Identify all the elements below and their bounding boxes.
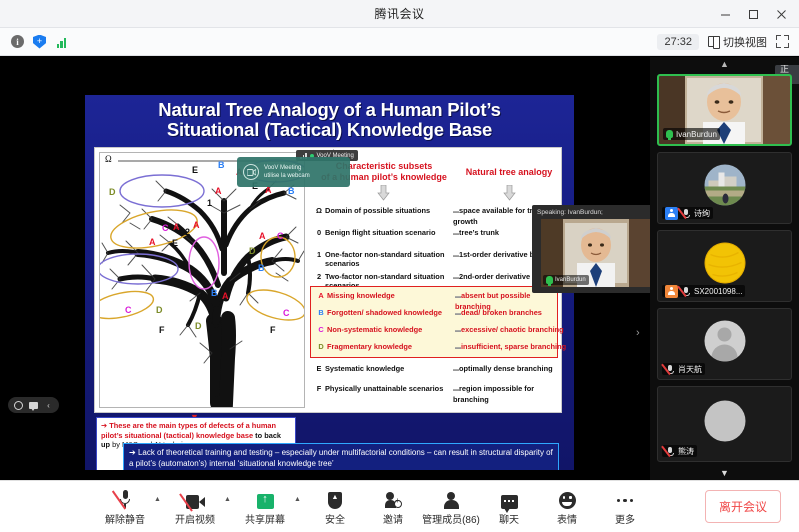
meeting-controls-group: 解除静音 ▲ 开启视频 ▲ 共享屏幕 ▲ 安全 邀请 — [96, 487, 654, 526]
legend-symbol-0: Ω — [313, 206, 325, 215]
defect-text-0: Missing knowledge — [327, 291, 455, 300]
legend-symbol-2: 1 — [313, 250, 325, 259]
pip-name-label: IvanBurdun — [555, 277, 586, 283]
defect-analogy-3: insufficient, sparse branching — [455, 342, 567, 353]
pip-video: IvanBurdun — [541, 219, 651, 287]
participant-name: 肖天航 — [678, 364, 702, 375]
participant-tile-4[interactable]: 熊涛 — [657, 386, 792, 462]
toolbar-button-security[interactable]: 安全 — [306, 487, 364, 526]
voov-toast-subtitle: utilise la webcam — [264, 172, 310, 180]
tree-label-24: C — [283, 308, 290, 318]
window-titlebar: 腾讯会议 — [0, 0, 799, 28]
legend-text-2: One-factor non-standard situation scenar… — [325, 250, 453, 268]
toolbar-label-participants: 管理成员(86) — [422, 511, 480, 526]
voov-toast-text: VooV Meeting utilise la webcam — [264, 164, 310, 180]
participant-tile-0[interactable]: IvanBurdun — [657, 74, 792, 146]
tree-diagram: Ω — [99, 152, 305, 408]
window-controls — [711, 0, 795, 28]
share-screen-icon — [257, 487, 274, 509]
tree-label-16: A — [149, 237, 156, 247]
emoji-icon[interactable] — [13, 400, 24, 411]
tree-label-8: 1 — [207, 198, 212, 208]
tree-label-20: B — [211, 288, 218, 298]
video-options-chevron-icon[interactable]: ▲ — [224, 496, 236, 503]
voov-webcam-toast[interactable]: VooV Meeting utilise la webcam — [237, 157, 350, 187]
toolbar-label-emoji: 表情 — [557, 511, 577, 526]
tail-text-1: Physically unattainable scenarios — [325, 384, 453, 393]
scroll-down-icon[interactable]: ▼ — [650, 466, 799, 480]
tree-label-1: B — [218, 160, 225, 170]
toolbar-label-more: 更多 — [615, 511, 635, 526]
participant-tile-3[interactable]: 肖天航 — [657, 308, 792, 380]
avatar — [704, 165, 745, 206]
participant-name: 诗绚 — [694, 208, 710, 219]
tree-label-10: C — [162, 223, 169, 233]
chevron-left-icon[interactable]: ‹ — [43, 400, 54, 411]
mic-on-icon — [666, 130, 673, 138]
banner-arrow-icon: ➔ — [129, 448, 136, 457]
defect-symbol-2: C — [315, 325, 327, 334]
mic-off-icon — [665, 364, 675, 375]
arrow-down-icon-left — [377, 185, 390, 201]
participant-tile-2[interactable]: SX2001098... — [657, 230, 792, 302]
avatar — [704, 321, 745, 362]
tree-label-12: 2 — [185, 227, 190, 237]
tree-label-19: B — [258, 263, 265, 273]
pip-name-badge: IvanBurdun — [543, 275, 589, 285]
fullscreen-icon[interactable] — [776, 35, 789, 48]
arrow-down-icon-right — [503, 185, 516, 201]
defect-text-2: Non-systematic knowledge — [327, 325, 455, 334]
toolbar-label-invite: 邀请 — [383, 511, 403, 526]
tree-label-11: A — [173, 222, 180, 232]
legend-text-0: Domain of possible situations — [325, 206, 453, 215]
legend-text-1: Benign flight situation scenario — [325, 228, 453, 237]
speaking-label: Speaking: IvanBurdun; — [537, 209, 603, 216]
tree-label-23: D — [156, 305, 163, 315]
toolbar-label-share: 共享屏幕 — [245, 511, 285, 526]
toolbar-label-video: 开启视频 — [175, 511, 215, 526]
shield-icon[interactable]: + — [32, 34, 47, 49]
switch-view-button[interactable]: 切换视图 — [708, 34, 767, 50]
tree-label-7: B — [288, 186, 295, 196]
avatar — [704, 243, 745, 284]
participant-name: IvanBurdun — [676, 130, 717, 139]
participant-name: SX2001098... — [694, 287, 742, 296]
tree-label-9: A — [193, 220, 200, 230]
toolbar-label-mic: 解除静音 — [105, 511, 145, 526]
callout-part3: knowledge base — [196, 431, 255, 440]
participant-name: 熊涛 — [678, 446, 694, 457]
tree-label-4: A — [215, 186, 222, 196]
toolbar-button-more[interactable]: 更多 — [596, 487, 654, 526]
tree-label-3: D — [109, 187, 116, 197]
tree-illustration — [100, 153, 305, 408]
tree-label-17: E — [172, 238, 178, 248]
defect-analogy-1: dead/ broken branches — [455, 308, 567, 319]
tail-symbol-0: E — [313, 364, 325, 373]
participant-name-badge: IvanBurdun — [663, 128, 720, 140]
legend-symbol-1: 0 — [313, 228, 325, 237]
toolbar-button-video[interactable]: 开启视频 — [166, 487, 224, 526]
tree-label-25: D — [195, 321, 202, 331]
maximize-icon[interactable] — [739, 2, 767, 26]
chat-icon[interactable] — [28, 400, 39, 411]
tail-text-0: Systematic knowledge — [325, 364, 453, 373]
tail-analogy-0: optimally dense branching — [453, 364, 565, 375]
tail-analogy-1: region impossible for branching — [453, 384, 565, 404]
participant-name-badge: 诗绚 — [662, 207, 713, 219]
legend-symbol-3: 2 — [313, 272, 325, 281]
defect-text-1: Forgotten/ shadowed knowledge — [327, 308, 455, 317]
camera-off-icon — [186, 487, 205, 509]
legend-defects-box: AMissing knowledgeabsent but possible br… — [310, 286, 558, 358]
info-icon[interactable]: i — [10, 34, 25, 49]
tree-label-22: C — [125, 305, 132, 315]
mic-off-icon — [681, 208, 691, 219]
meeting-subtoolbar: i + 27:32 切换视图 — [0, 28, 799, 56]
switch-view-icon — [708, 36, 720, 47]
defect-symbol-0: A — [315, 291, 327, 300]
toolbar-button-invite[interactable]: 邀请 — [364, 487, 422, 526]
mic-on-icon — [546, 276, 553, 284]
mic-off-icon — [681, 286, 691, 297]
participant-name-badge: 熊涛 — [662, 445, 697, 457]
legend-heading-right: Natural tree analogy — [459, 167, 559, 178]
slide-legend: Legend: Characteristic subsets of a huma… — [309, 150, 559, 412]
mic-options-chevron-icon[interactable]: ▲ — [154, 496, 166, 503]
tree-label-26: F — [159, 325, 165, 335]
avatar — [704, 401, 745, 442]
voov-meeting-window: 腾讯会议 i + 27:32 切换视图 — [0, 0, 799, 532]
more-icon — [617, 487, 634, 509]
security-icon — [328, 487, 342, 509]
mic-off-icon — [665, 446, 675, 457]
participant-name-badge: 肖天航 — [662, 363, 705, 375]
tree-label-21: A — [222, 291, 229, 301]
participant-sidebar: ▲ 正在 IvanBurd — [650, 57, 799, 480]
slide-conclusion-banner: ➔ Lack of theoretical training and testi… — [123, 443, 559, 470]
defect-symbol-1: B — [315, 308, 327, 317]
callout-part1: These are the main types of defects — [109, 421, 234, 430]
signal-icon[interactable] — [54, 34, 69, 49]
slide-title: Natural Tree Analogy of a Human Pilot’s … — [85, 100, 574, 140]
emoji-icon — [559, 487, 576, 509]
toolbar-button-emoji[interactable]: 表情 — [538, 487, 596, 526]
participant-name-badge: SX2001098... — [662, 285, 745, 297]
toolbar-button-share[interactable]: 共享屏幕 — [236, 487, 294, 526]
participant-tile-1[interactable]: 诗绚 — [657, 152, 792, 224]
close-icon[interactable] — [767, 2, 795, 26]
toolbar-button-participants[interactable]: 管理成员(86) — [422, 487, 480, 526]
mic-muted-icon — [119, 487, 131, 509]
pip-header: Speaking: IvanBurdun; — [532, 205, 660, 219]
callout-arrow-icon: ➔ — [101, 421, 107, 430]
toolbar-button-mic[interactable]: 解除静音 — [96, 487, 154, 526]
toolbar-label-security: 安全 — [325, 511, 345, 526]
window-title: 腾讯会议 — [374, 5, 424, 22]
floating-mini-toolbar[interactable]: ‹ — [8, 397, 59, 413]
tail-symbol-1: F — [313, 384, 325, 393]
toolbar-label-chat: 聊天 — [499, 511, 519, 526]
banner-line1: Lack of theoretical training and testing… — [138, 448, 468, 457]
share-options-chevron-icon[interactable]: ▲ — [294, 496, 306, 503]
voov-toast-title: VooV Meeting — [264, 164, 310, 172]
tree-label-18: D — [249, 246, 256, 256]
minimize-icon[interactable] — [711, 2, 739, 26]
tree-label-0: E — [192, 165, 198, 175]
switch-view-label: 切换视图 — [723, 34, 767, 50]
tree-label-15: C — [277, 231, 284, 241]
meeting-controls-toolbar: 解除静音 ▲ 开启视频 ▲ 共享屏幕 ▲ 安全 邀请 — [0, 480, 799, 532]
tree-label-27: F — [270, 325, 276, 335]
tree-label-13: 0 — [222, 225, 227, 235]
camera-icon — [243, 164, 259, 180]
chat-icon — [501, 487, 518, 509]
participants-icon — [444, 487, 459, 509]
invite-icon — [385, 487, 402, 509]
defect-analogy-2: excessive/ chaotic branching — [455, 325, 567, 336]
tree-label-14: A — [259, 231, 266, 241]
defect-symbol-3: D — [315, 342, 327, 351]
shared-screen-stage: Natural Tree Analogy of a Human Pilot’s … — [0, 57, 650, 480]
meeting-timer: 27:32 — [657, 34, 699, 50]
toolbar-button-chat[interactable]: 聊天 — [480, 487, 538, 526]
expand-sidebar-chevron-icon[interactable]: › — [636, 327, 640, 339]
leave-meeting-button[interactable]: 离开会议 — [705, 490, 781, 523]
active-speaker-pip[interactable]: Speaking: IvanBurdun; — [532, 205, 660, 293]
defect-text-3: Fragmentary knowledge — [327, 342, 455, 351]
